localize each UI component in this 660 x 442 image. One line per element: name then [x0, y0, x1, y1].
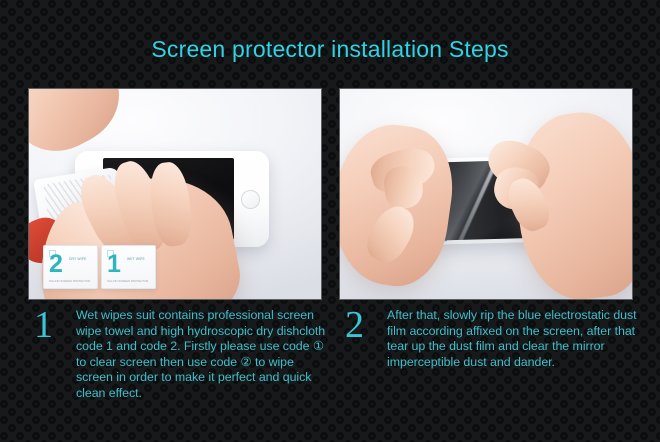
step-number: 2 [345, 306, 364, 344]
page-title: Screen protector installation Steps [0, 36, 660, 63]
sachet-footer: NILLKIN SCREEN PROTECTOR [49, 280, 93, 284]
home-button [241, 190, 260, 209]
wipe-sachet-2: 2 DRY WIPE NILLKIN SCREEN PROTECTOR [43, 245, 98, 289]
step-1: 1 Wet wipes suit contains professional s… [28, 308, 328, 402]
step-2: 2 After that, slowly rip the blue electr… [339, 308, 639, 370]
step-description: Wet wipes suit contains professional scr… [76, 308, 328, 402]
step-1-photo: 2 DRY WIPE NILLKIN SCREEN PROTECTOR 1 WE… [28, 88, 322, 300]
sachet-brand: DRY WIPE [69, 257, 93, 261]
sachet-footer: NILLKIN SCREEN PROTECTOR [107, 280, 151, 284]
wipe-sachet-1: 1 WET WIPE NILLKIN SCREEN PROTECTOR [101, 245, 156, 289]
step-description: After that, slowly rip the blue electros… [387, 308, 639, 370]
thumb [360, 200, 422, 269]
step-number: 1 [34, 306, 53, 344]
step-2-photo [339, 88, 633, 300]
sachet-number: 1 [107, 252, 121, 276]
instruction-graphic: Screen protector installation Steps 2 [0, 0, 660, 442]
sachet-number: 2 [49, 252, 63, 276]
sachet-brand: WET WIPE [127, 257, 151, 261]
